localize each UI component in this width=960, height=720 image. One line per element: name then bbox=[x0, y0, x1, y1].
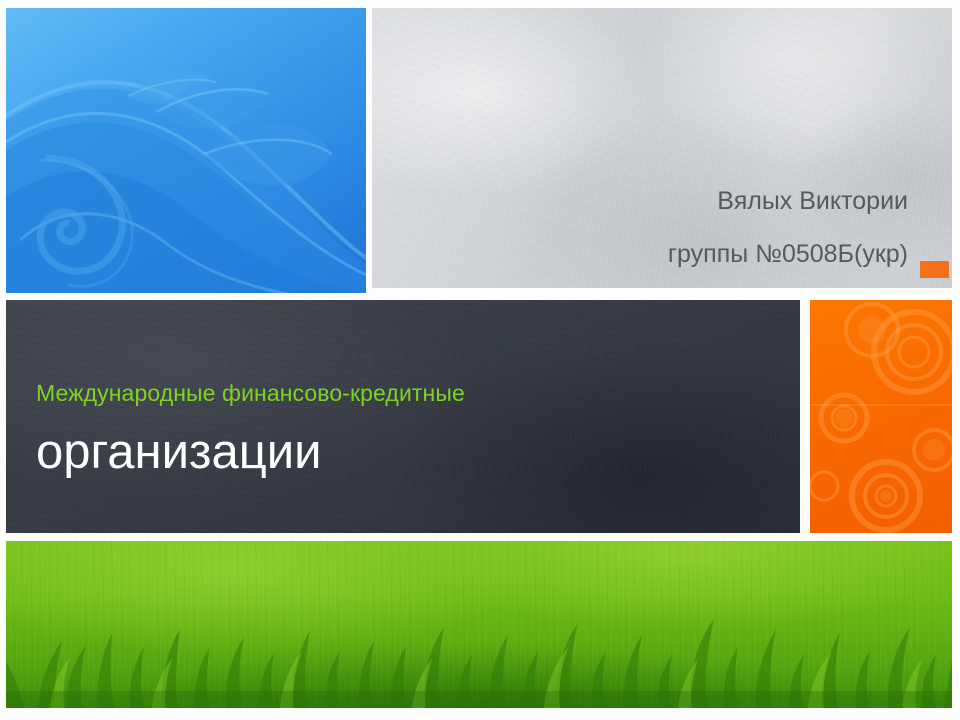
blue-swirl-graphic bbox=[6, 8, 366, 293]
byline-block: Вялых Виктории группы №0508Б(укр) bbox=[668, 186, 908, 271]
slide-title: организации bbox=[36, 426, 780, 480]
orange-circles-graphic bbox=[810, 300, 952, 533]
byline-group: группы №0508Б(укр) bbox=[668, 239, 908, 270]
dark-title-panel: Международные финансово-кредитные органи… bbox=[6, 300, 800, 533]
slide-subtitle: Международные финансово-кредитные bbox=[36, 380, 780, 408]
orange-circles-panel bbox=[810, 300, 952, 533]
green-grass-panel bbox=[6, 541, 952, 708]
byline-author: Вялых Виктории bbox=[668, 186, 908, 217]
orange-accent-rectangle bbox=[920, 261, 949, 278]
grass-blades-graphic bbox=[6, 541, 952, 708]
blue-swirl-image-panel bbox=[6, 8, 366, 293]
presentation-title-slide: Вялых Виктории группы №0508Б(укр) Междун… bbox=[0, 0, 960, 720]
title-block: Международные финансово-кредитные органи… bbox=[36, 380, 780, 479]
